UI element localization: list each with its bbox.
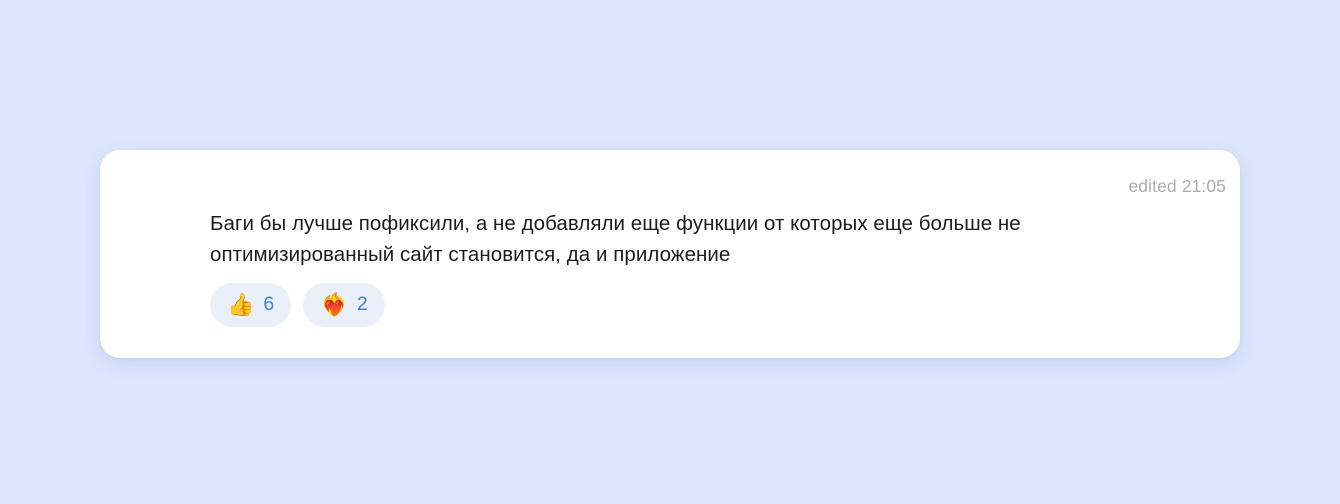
reaction-pill-thumbs-up[interactable]: 👍 6 xyxy=(210,283,291,327)
reactions-row: 👍 6 ❤️‍🔥 2 xyxy=(210,283,385,327)
message-card[interactable]: edited 21:05 Баги бы лучше пофиксили, а … xyxy=(100,150,1240,358)
reaction-count-thumbs-up: 6 xyxy=(263,295,274,315)
thumbs-up-emoji: 👍 xyxy=(227,294,254,316)
heart-on-fire-emoji: ❤️‍🔥 xyxy=(320,294,347,316)
reaction-count-heart-on-fire: 2 xyxy=(357,295,368,315)
reaction-pill-heart-on-fire[interactable]: ❤️‍🔥 2 xyxy=(303,283,384,327)
message-meta: edited 21:05 xyxy=(1128,178,1226,196)
edited-timestamp: edited 21:05 xyxy=(1128,178,1226,196)
screen: edited 21:05 Баги бы лучше пофиксили, а … xyxy=(0,0,1340,504)
message-text: Баги бы лучше пофиксили, а не добавляли … xyxy=(210,208,1100,270)
